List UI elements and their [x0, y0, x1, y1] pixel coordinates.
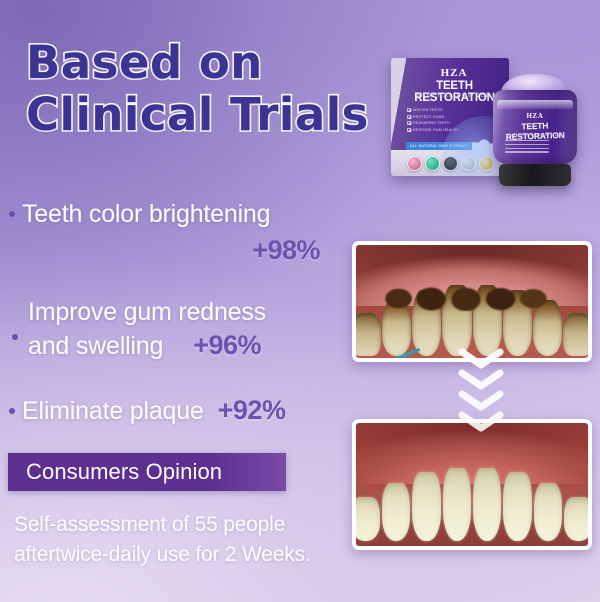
down-arrows [452, 348, 510, 440]
jar-rim [497, 100, 573, 109]
chevron-down-icon [458, 390, 504, 412]
claims-list: Teeth color brightening +98% Improve gum… [0, 198, 345, 366]
bullet-dot-icon [9, 408, 15, 414]
bullet-dot-icon [9, 211, 15, 217]
jar-label-lines [505, 140, 549, 155]
headline: Based on Clinical Trials [26, 38, 426, 140]
consumers-opinion-banner: Consumers Opinion [8, 453, 286, 491]
jar-product-subtitle: MINERAL POWDER [493, 132, 577, 137]
claim-item-eliminate-plaque: Eliminate plaque +92% [0, 395, 345, 428]
claim-item-teeth-brightening: Teeth color brightening +98% [0, 198, 345, 266]
cert-badge-pink-icon [407, 156, 422, 171]
claim-percent: +98% [252, 235, 320, 265]
jar-body: HZA TEETH RESTORATION MINERAL POWDER [493, 90, 577, 164]
box-natural-badge: ALL NATURAL GMO EXTRACT [406, 142, 472, 150]
claim-label: Eliminate plaque [22, 395, 204, 428]
chevron-down-icon [458, 369, 504, 391]
before-photo [352, 241, 592, 362]
cert-badge-black-icon [443, 156, 458, 171]
consumers-opinion-label: Consumers Opinion [8, 459, 222, 485]
footnote-line-2: aftertwice-daily use for 2 Weeks. [14, 540, 344, 570]
footnote: Self-assessment of 55 people aftertwice-… [14, 510, 344, 570]
claim-item-gum-redness: Improve gum redness and swelling +96% [0, 296, 345, 363]
after-teeth [352, 465, 592, 541]
cert-badge-green-icon [425, 156, 440, 171]
jar-brand-name: HZA [493, 112, 577, 120]
jar-base [499, 164, 571, 186]
cert-badge-fda-icon [461, 156, 476, 171]
footnote-line-1: Self-assessment of 55 people [14, 510, 344, 540]
before-tartar-stains [370, 286, 574, 311]
chevron-down-icon [458, 411, 504, 433]
after-mouth-image [356, 423, 588, 546]
headline-line-2: Clinical Trials [26, 90, 426, 140]
headline-line-1: Based on [26, 38, 426, 88]
claim-percent: +92% [218, 395, 286, 426]
bullet-dot-icon [12, 334, 18, 340]
claim-label-line2: and swelling [28, 330, 163, 363]
advertisement-poster: Based on Clinical Trials HZA TEETH RESTO… [0, 0, 600, 602]
claim-label: Teeth color brightening [22, 198, 345, 231]
claim-percent: +96% [193, 330, 261, 361]
before-mouth-image [356, 245, 588, 358]
product-jar: HZA TEETH RESTORATION MINERAL POWDER [487, 74, 583, 186]
chevron-down-icon [458, 348, 504, 370]
claim-label-line1: Improve gum redness [28, 296, 345, 329]
